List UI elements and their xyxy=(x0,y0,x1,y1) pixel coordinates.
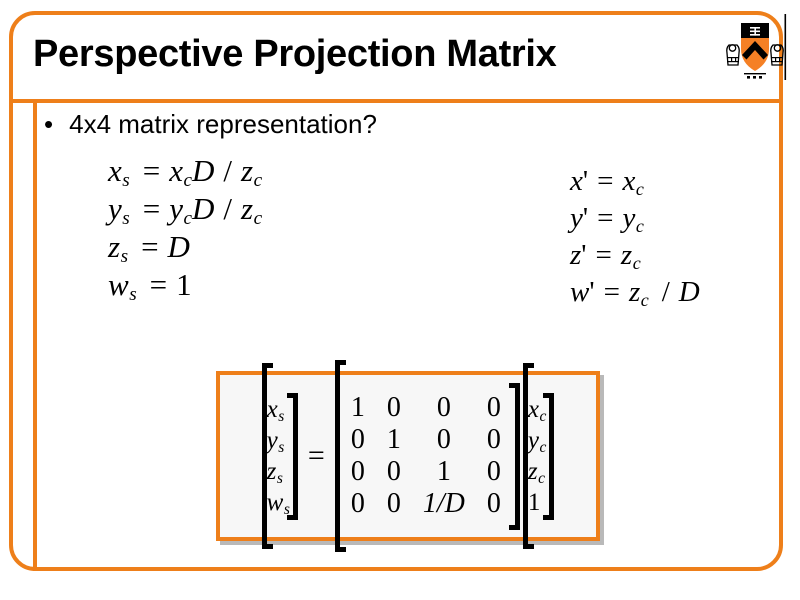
matrix-cell: 0 xyxy=(376,392,412,424)
vector-cell: yc xyxy=(528,425,547,456)
output-vector: xs ys zs ws xyxy=(267,358,290,554)
matrix-cell: 0 xyxy=(476,424,512,456)
equation-z-prime: z'=zc xyxy=(570,237,700,274)
input-vector-bracket-right xyxy=(549,393,554,520)
matrix-cell: 0 xyxy=(476,488,512,520)
slide-canvas: Perspective Projection Matrix xyxy=(0,0,800,600)
vector-cell: xs xyxy=(267,394,290,425)
matrix-cell: 1 xyxy=(412,456,476,488)
equation-zs: zs=D xyxy=(108,228,262,266)
matrix-row: 0 1 0 0 xyxy=(340,424,512,456)
input-vector: xc yc zc 1 xyxy=(528,358,547,554)
input-vector-bracket-left: xc yc zc 1 xyxy=(523,363,547,549)
content-left-rule xyxy=(33,103,37,571)
matrix-cell: 0 xyxy=(340,424,376,456)
bullet-item: • 4x4 matrix representation? xyxy=(44,108,377,140)
vector-cell: zc xyxy=(528,456,547,487)
equation-block-screen-coords: xs=xcD/zc ys=ycD/zc zs=D ws=1 xyxy=(108,152,262,304)
equals-sign: = xyxy=(308,439,325,473)
matrix-cell: 1/D xyxy=(412,488,476,520)
matrix-bracket-left: 1 0 0 0 0 1 0 0 0 0 xyxy=(335,360,512,552)
vector-cell: 1 xyxy=(528,487,547,518)
matrix-row: 0 0 1/D 0 xyxy=(340,488,512,520)
slide-title-bar: Perspective Projection Matrix xyxy=(9,11,783,103)
vector-cell: xc xyxy=(528,394,547,425)
equation-y-prime: y'=yc xyxy=(570,200,700,237)
bullet-marker-icon: • xyxy=(44,109,53,139)
matrix-cell: 0 xyxy=(340,488,376,520)
output-vector-bracket-left: xs ys zs ws xyxy=(262,363,290,549)
matrix-cell: 1 xyxy=(376,424,412,456)
equation-x-prime: x'=xc xyxy=(570,163,700,200)
matrix-cell: 0 xyxy=(376,456,412,488)
matrix-bracket-right xyxy=(515,383,520,530)
matrix-cell: 0 xyxy=(476,456,512,488)
vector-cell: ys xyxy=(267,425,290,456)
matrix-equation: xs ys zs ws = 1 0 0 xyxy=(220,375,596,537)
matrix-row: 0 0 1 0 xyxy=(340,456,512,488)
vector-cell: zs xyxy=(267,456,290,487)
projection-matrix: 1 0 0 0 0 1 0 0 0 0 xyxy=(340,353,512,558)
matrix-cell: 0 xyxy=(412,392,476,424)
matrix-cell: 0 xyxy=(412,424,476,456)
vector-cell: ws xyxy=(267,487,290,518)
equation-ys: ys=ycD/zc xyxy=(108,190,262,228)
matrix-cell: 1 xyxy=(340,392,376,424)
equation-w-prime: w'=zc/D xyxy=(570,274,700,311)
equation-ws: ws=1 xyxy=(108,266,262,304)
matrix-equation-box: xs ys zs ws = 1 0 0 xyxy=(216,371,600,541)
matrix-row: 1 0 0 0 xyxy=(340,392,512,424)
princeton-shield-logo xyxy=(722,13,788,83)
matrix-cell: 0 xyxy=(340,456,376,488)
output-vector-bracket-right xyxy=(293,393,298,520)
page-title: Perspective Projection Matrix xyxy=(33,32,557,76)
matrix-cell: 0 xyxy=(476,392,512,424)
equation-block-homogeneous: x'=xc y'=yc z'=zc w'=zc/D xyxy=(570,163,700,311)
equation-xs: xs=xcD/zc xyxy=(108,152,262,190)
matrix-cell: 0 xyxy=(376,488,412,520)
bullet-item-label: 4x4 matrix representation? xyxy=(69,108,377,140)
